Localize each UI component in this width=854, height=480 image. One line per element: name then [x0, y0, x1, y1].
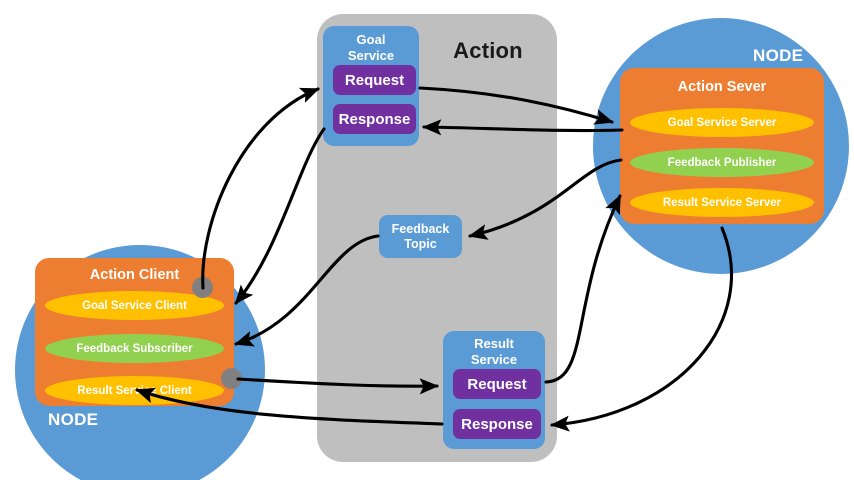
result-service-box: Result Service Request Response — [443, 331, 545, 449]
feedback-topic-line2: Topic — [404, 237, 436, 251]
goal-service-title-line2: Service — [348, 48, 394, 63]
feedback-publisher-interface[interactable]: Feedback Publisher — [630, 148, 814, 177]
result-response-box[interactable]: Response — [453, 409, 541, 439]
result-client-connector-dot — [221, 368, 242, 389]
result-service-title-line1: Result — [474, 336, 514, 351]
goal-request-box[interactable]: Request — [333, 65, 416, 95]
server-node-label: NODE — [753, 46, 803, 66]
result-service-title-line2: Service — [471, 352, 517, 367]
arrow-response-to-goalclient — [236, 129, 324, 303]
feedback-topic-line1: Feedback — [392, 222, 450, 236]
goal-client-connector-dot — [192, 277, 213, 298]
feedback-subscriber-interface[interactable]: Feedback Subscriber — [45, 334, 224, 363]
result-service-client-interface[interactable]: Result Service Client — [45, 376, 224, 405]
goal-service-title: Goal Service — [323, 32, 419, 64]
goal-service-title-line1: Goal — [357, 32, 386, 47]
feedback-topic-label: Feedback Topic — [392, 222, 450, 252]
goal-service-server-interface[interactable]: Goal Service Server — [630, 108, 814, 137]
goal-response-box[interactable]: Response — [333, 104, 416, 134]
result-service-server-interface[interactable]: Result Service Server — [630, 188, 814, 217]
feedback-topic-box[interactable]: Feedback Topic — [379, 215, 462, 258]
action-server-box: Action Sever Goal Service Server Feedbac… — [620, 68, 824, 224]
diagram-canvas: Action NODE Action Sever Goal Service Se… — [0, 0, 854, 480]
result-request-box[interactable]: Request — [453, 369, 541, 399]
action-panel-title: Action — [423, 38, 553, 64]
arrow-request-to-resultserver — [546, 196, 620, 382]
client-node-label: NODE — [48, 410, 98, 430]
result-service-title: Result Service — [443, 336, 545, 368]
action-server-title: Action Sever — [620, 79, 824, 95]
goal-service-box: Goal Service Request Response — [323, 26, 419, 146]
